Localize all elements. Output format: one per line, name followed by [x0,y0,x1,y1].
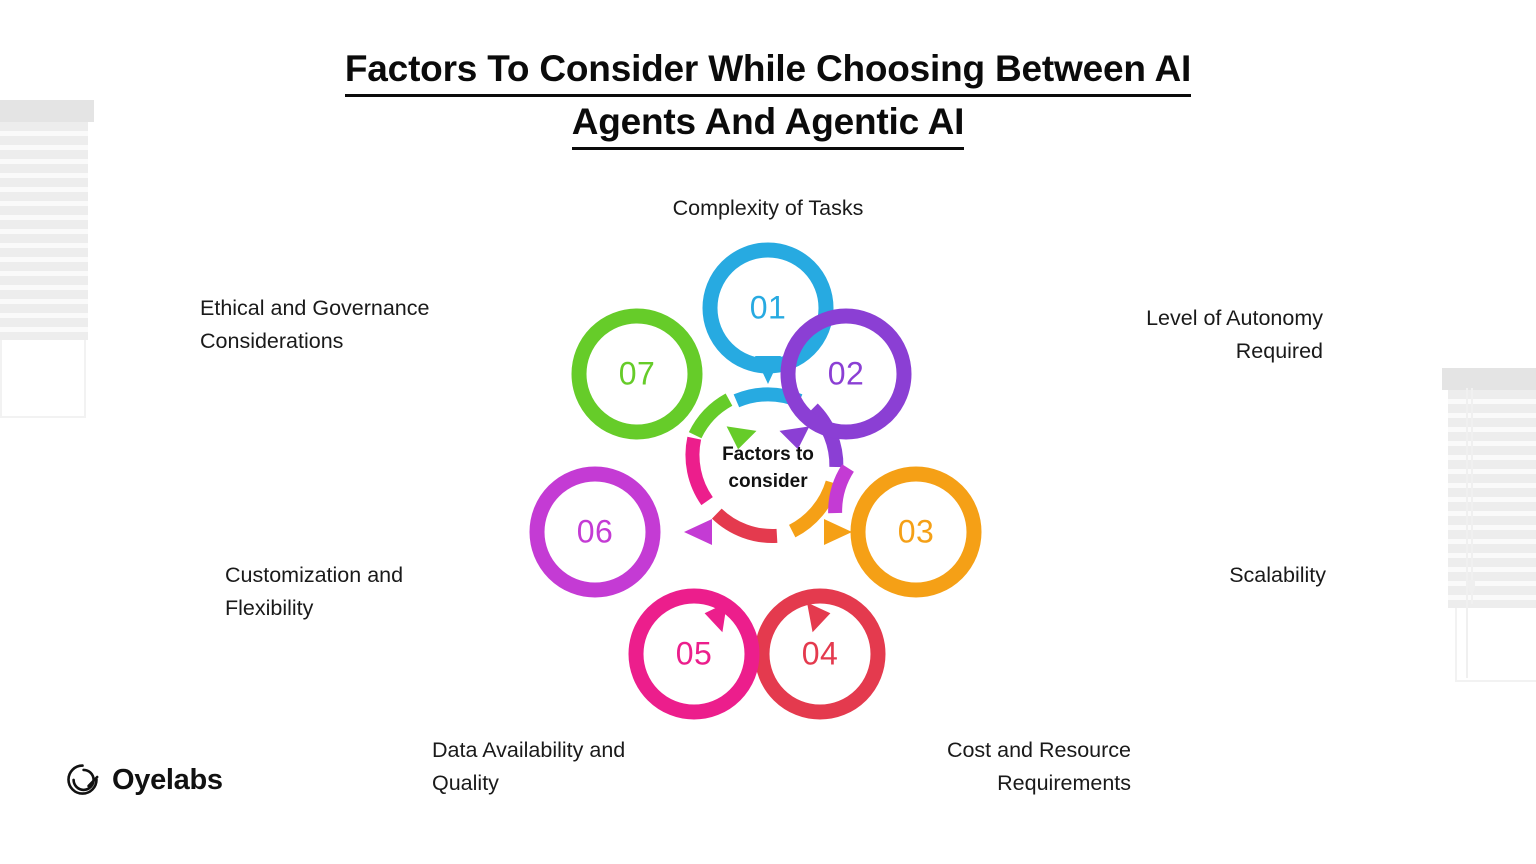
node-number-03: 03 [898,514,935,551]
blind-cord-tip-right [1468,580,1475,593]
node-label-05: Data Availability and Quality [432,734,747,800]
node-label-04: Cost and Resource Requirements [801,734,1131,800]
blind-slats-left [0,122,88,340]
hub-center-label: Factors to consider [693,441,843,495]
hub-seg-04 [717,514,777,536]
hub-label-line-2: consider [728,471,807,492]
brand-name: Oyelabs [112,764,223,797]
blind-frame-right [1455,372,1536,682]
node-number-05: 05 [676,636,713,673]
page-title-line-1: Factors To Consider While Choosing Betwe… [345,44,1191,97]
node-number-01: 01 [750,290,787,327]
factors-radial-diagram: Factors to consider 01 02 03 04 05 06 07 [468,168,1068,768]
blind-slats-right [1448,390,1536,608]
node-number-07: 07 [619,356,656,393]
node-number-02: 02 [828,356,865,393]
node-label-07: Ethical and Governance Considerations [200,292,558,358]
hub-label-line-1: Factors to [722,444,814,465]
blind-headrail-right [1442,368,1536,390]
page-title: Factors To Consider While Choosing Betwe… [0,44,1536,150]
node-label-01: Complexity of Tasks [568,192,968,225]
node-number-04: 04 [802,636,839,673]
node-ring-06 [537,474,712,590]
node-label-06: Customization and Flexibility [225,559,525,625]
node-label-02: Level of Autonomy Required [993,302,1323,368]
blind-frame-left [0,104,86,418]
page-title-line-2: Agents And Agentic AI [572,97,965,150]
hub-seg-07 [695,400,729,436]
blind-cord-short-right [1471,388,1473,604]
node-label-03: Scalability [1026,559,1326,592]
oyelabs-spiral-logo-icon [66,763,100,797]
node-number-06: 06 [577,514,614,551]
blind-cord-long-right [1466,388,1468,678]
brand-logo: Oyelabs [66,763,223,797]
node-ring-07 [579,316,757,449]
